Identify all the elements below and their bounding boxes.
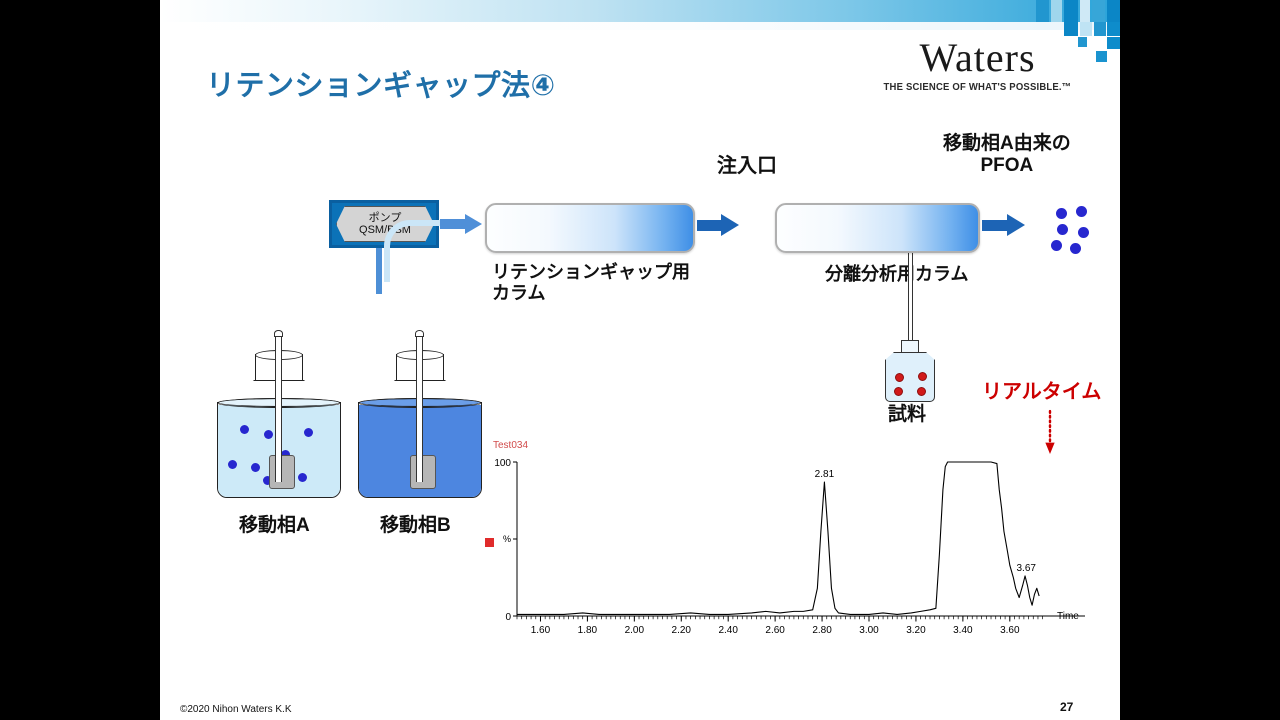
logo-tagline: THE SCIENCE OF WHAT'S POSSIBLE.™ [870, 82, 1085, 94]
bottle-a-label: 移動相A [239, 515, 310, 537]
sample-analyte-dot [918, 372, 927, 381]
mobile-phase-a-bottle [215, 330, 343, 500]
vial-neck [901, 340, 919, 353]
svg-text:2.20: 2.20 [672, 625, 692, 636]
retention-gap-column [485, 203, 695, 253]
pfoa-dot [1078, 227, 1089, 238]
bottle-b-inlet-rod [416, 336, 423, 482]
header-gradient-band [160, 0, 1120, 22]
bottle-b-inlet-filter [410, 455, 436, 489]
analytical-column [775, 203, 980, 253]
mobile-phase-b-bottle [356, 330, 484, 500]
svg-text:1.60: 1.60 [531, 625, 551, 636]
pfoa-label-line1: 移動相A由来の [943, 133, 1071, 155]
svg-text:2.80: 2.80 [812, 625, 832, 636]
svg-text:3.67: 3.67 [1016, 563, 1036, 574]
slide-canvas: リテンションギャップ法④ Waters THE SCIENCE OF WHAT'… [160, 0, 1120, 720]
bottle-a-rod-cap-overlay [274, 330, 283, 337]
pfoa-dot [1076, 206, 1087, 217]
copyright-notice: ©2020 Nihon Waters K.K [180, 704, 292, 715]
mobile-phase-a-contaminant-dot [251, 463, 260, 472]
pfoa-dot [1056, 208, 1067, 219]
bottle-b-label: 移動相B [380, 515, 451, 537]
mobile-phase-a-contaminant-dot [228, 460, 237, 469]
sample-analyte-dot [895, 373, 904, 382]
page-number: 27 [1060, 700, 1073, 714]
chromatogram-chart: Test034 100%01.601.802.002.202.402.602.8… [485, 440, 1105, 640]
svg-text:0: 0 [505, 612, 511, 623]
injector-label: 注入口 [717, 155, 777, 179]
bottle-a-inlet-rod-overlay [275, 336, 282, 482]
pfoa-dot [1051, 240, 1062, 251]
pfoa-label-line2: PFOA [943, 155, 1071, 177]
svg-text:3.60: 3.60 [1000, 625, 1020, 636]
logo-wordmark: Waters [870, 38, 1085, 78]
pfoa-dot [1070, 243, 1081, 254]
svg-text:2.40: 2.40 [718, 625, 738, 636]
chart-title: Test034 [493, 440, 528, 451]
svg-text:100: 100 [494, 458, 511, 469]
svg-text:%: % [503, 534, 511, 544]
sample-vial [884, 340, 936, 402]
bottle-a-inlet-filter [269, 455, 295, 489]
retention-gap-column-label: リテンションギャップ用 カラム [492, 262, 690, 304]
realtime-callout-label: リアルタイム [982, 375, 1101, 404]
svg-text:2.81: 2.81 [815, 469, 835, 480]
vial-body [885, 352, 935, 402]
retention-gap-column-label-line1: リテンションギャップ用 [492, 262, 690, 283]
sample-analyte-dot [894, 387, 903, 396]
bottle-b-rod-cap [415, 330, 424, 337]
analytical-column-label: 分離分析用カラム [825, 264, 968, 285]
mobile-phase-a-contaminant-dot [304, 428, 313, 437]
header-gradient-band-secondary [160, 22, 1120, 30]
svg-text:2.60: 2.60 [765, 625, 785, 636]
svg-text:Time: Time [1057, 611, 1079, 622]
svg-text:3.00: 3.00 [859, 625, 879, 636]
sample-analyte-dot [917, 387, 926, 396]
chart-trace-marker [485, 538, 494, 547]
mobile-phase-a-contaminant-dot [240, 425, 249, 434]
retention-gap-column-label-line2: カラム [492, 283, 690, 304]
tube-mobile-phase-b [376, 248, 382, 294]
svg-text:2.00: 2.00 [625, 625, 645, 636]
sample-label: 試料 [888, 404, 926, 426]
screen: リテンションギャップ法④ Waters THE SCIENCE OF WHAT'… [0, 0, 1280, 720]
svg-text:1.80: 1.80 [578, 625, 598, 636]
svg-text:3.20: 3.20 [906, 625, 926, 636]
chart-plot-area: 100%01.601.802.002.202.402.602.803.003.2… [485, 440, 1105, 640]
pump-label-line1: ポンプ [369, 212, 402, 224]
mobile-phase-a-contaminant-dot [298, 473, 307, 482]
pfoa-dot [1057, 224, 1068, 235]
pfoa-label: 移動相A由来の PFOA [943, 133, 1071, 178]
injector-needle-tube [908, 248, 913, 350]
waters-logo: Waters THE SCIENCE OF WHAT'S POSSIBLE.™ [870, 38, 1085, 93]
mobile-phase-a-contaminant-dot [264, 430, 273, 439]
page-title: リテンションギャップ法④ [206, 62, 556, 104]
svg-text:3.40: 3.40 [953, 625, 973, 636]
tube-mobile-phase-a [384, 220, 442, 282]
